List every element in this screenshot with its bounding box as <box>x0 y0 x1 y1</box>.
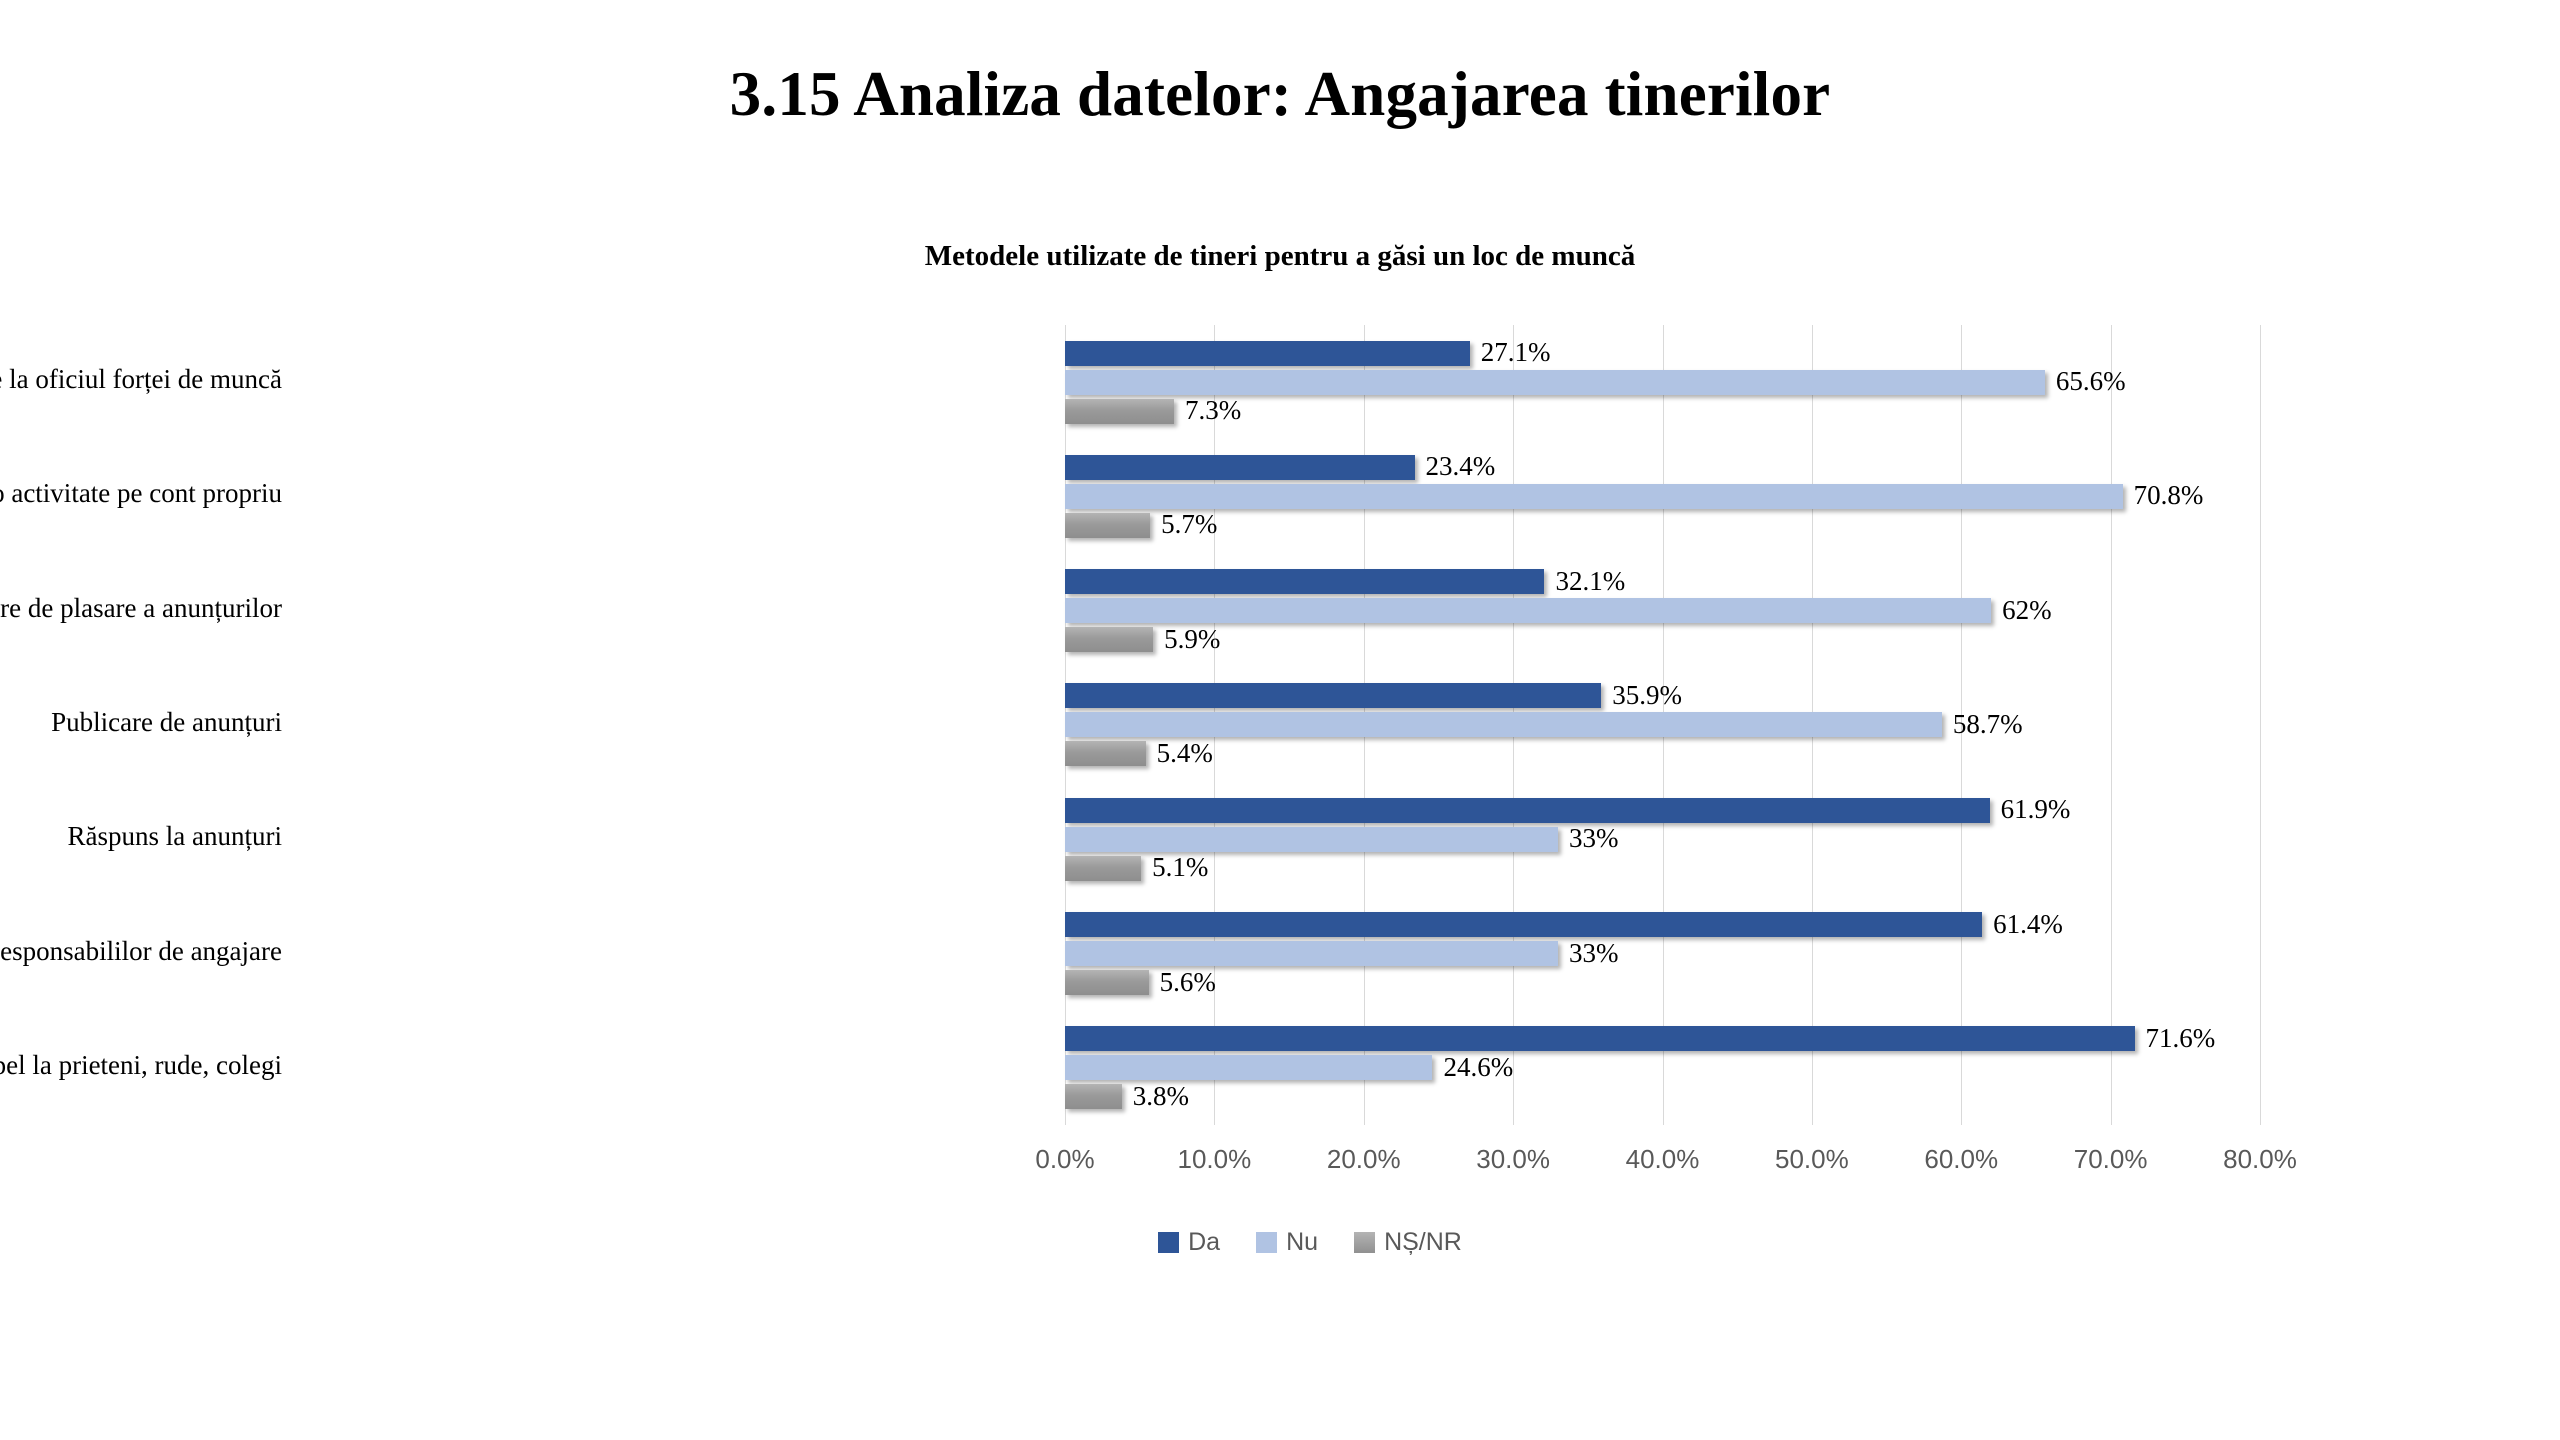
bar-row: 33% <box>1065 827 2260 852</box>
bar-nu[interactable] <box>1065 712 1942 737</box>
x-axis-tick-label: 20.0% <box>1327 1144 1401 1175</box>
bar-value-label: 62% <box>2002 595 2052 626</box>
bar-value-label: 7.3% <box>1185 395 1241 426</box>
legend-item-n-nr[interactable]: NȘ/NR <box>1354 1228 1462 1257</box>
bar-n-nr[interactable] <box>1065 856 1141 881</box>
bar-value-label: 5.1% <box>1152 852 1208 883</box>
x-axis-tick-label: 70.0% <box>2074 1144 2148 1175</box>
legend-item-nu[interactable]: Nu <box>1256 1228 1318 1257</box>
bar-nu[interactable] <box>1065 484 2123 509</box>
x-axis-tick-label: 0.0% <box>1035 1144 1094 1175</box>
bar-row: 71.6% <box>1065 1026 2260 1051</box>
bar-group: 61.4%33%5.6% <box>1065 896 2260 1010</box>
bar-value-label: 23.4% <box>1426 451 1496 482</box>
bar-row: 61.9% <box>1065 798 2260 823</box>
bar-n-nr[interactable] <box>1065 513 1150 538</box>
x-axis-tick-label: 60.0% <box>1924 1144 1998 1175</box>
bar-value-label: 33% <box>1569 823 1619 854</box>
bar-row: 62% <box>1065 598 2260 623</box>
bar-value-label: 70.8% <box>2134 480 2204 511</box>
bar-nu[interactable] <box>1065 827 1558 852</box>
bar-row: 5.7% <box>1065 513 2260 538</box>
bar-group: 35.9%58.7%5.4% <box>1065 668 2260 782</box>
bar-group: 71.6%24.6%3.8% <box>1065 1011 2260 1125</box>
bar-da[interactable] <box>1065 569 1544 594</box>
category-label: Înscriere la oficiul forței de muncă <box>0 364 282 395</box>
bar-row: 5.4% <box>1065 741 2260 766</box>
legend-label: Da <box>1188 1228 1220 1257</box>
category-label: Demersuri pentru a începe o activitate p… <box>0 478 282 509</box>
bar-value-label: 5.9% <box>1164 624 1220 655</box>
category-label: Apel la prieteni, rude, colegi <box>0 1050 282 1081</box>
bar-group: 61.9%33%5.1% <box>1065 782 2260 896</box>
bar-row: 70.8% <box>1065 484 2260 509</box>
bar-da[interactable] <box>1065 341 1470 366</box>
bar-nu[interactable] <box>1065 941 1558 966</box>
bar-value-label: 65.6% <box>2056 366 2126 397</box>
legend-swatch-icon <box>1354 1232 1375 1253</box>
bar-row: 61.4% <box>1065 912 2260 937</box>
chart-title: Metodele utilizate de tineri pentru a gă… <box>0 240 2560 273</box>
slide-page: 3.15 Analiza datelor: Angajarea tinerilo… <box>0 0 2560 1440</box>
gridline <box>2260 325 2261 1125</box>
bar-nu[interactable] <box>1065 370 2045 395</box>
bar-value-label: 3.8% <box>1133 1081 1189 1112</box>
bar-value-label: 71.6% <box>2146 1023 2216 1054</box>
bar-group: 27.1%65.6%7.3% <box>1065 325 2260 439</box>
bar-value-label: 5.6% <box>1160 966 1216 997</box>
x-axis-tick-label: 40.0% <box>1626 1144 1700 1175</box>
bar-da[interactable] <box>1065 455 1415 480</box>
legend-swatch-icon <box>1256 1232 1277 1253</box>
bar-da[interactable] <box>1065 1026 2135 1051</box>
bar-value-label: 35.9% <box>1612 680 1682 711</box>
bar-group: 23.4%70.8%5.7% <box>1065 439 2260 553</box>
legend-label: NȘ/NR <box>1384 1228 1462 1257</box>
bar-row: 5.1% <box>1065 856 2260 881</box>
bar-row: 27.1% <box>1065 341 2260 366</box>
category-label: Publicare de anunțuri <box>51 707 282 738</box>
chart-legend: DaNuNȘ/NR <box>0 1228 2560 1257</box>
bar-value-label: 33% <box>1569 937 1619 968</box>
bar-value-label: 32.1% <box>1555 566 1625 597</box>
bar-group: 32.1%62%5.9% <box>1065 554 2260 668</box>
bar-nu[interactable] <box>1065 1055 1432 1080</box>
bar-row: 23.4% <box>1065 455 2260 480</box>
bar-row: 3.8% <box>1065 1084 2260 1109</box>
bar-n-nr[interactable] <box>1065 399 1174 424</box>
bar-value-label: 61.9% <box>2001 794 2071 825</box>
bar-n-nr[interactable] <box>1065 970 1149 995</box>
bar-da[interactable] <box>1065 912 1982 937</box>
legend-item-da[interactable]: Da <box>1158 1228 1220 1257</box>
bar-da[interactable] <box>1065 683 1601 708</box>
category-label: Contactarea directă a patronilor sau a r… <box>0 936 282 967</box>
category-label: Răspuns la anunțuri <box>68 821 282 852</box>
x-axis-tick-label: 30.0% <box>1476 1144 1550 1175</box>
legend-swatch-icon <box>1158 1232 1179 1253</box>
bar-row: 33% <box>1065 941 2260 966</box>
bar-nu[interactable] <box>1065 598 1991 623</box>
bar-value-label: 5.4% <box>1157 738 1213 769</box>
bar-row: 65.6% <box>1065 370 2260 395</box>
bar-row: 24.6% <box>1065 1055 2260 1080</box>
x-axis-tick-label: 10.0% <box>1178 1144 1252 1175</box>
bar-value-label: 5.7% <box>1161 509 1217 540</box>
bar-value-label: 58.7% <box>1953 709 2023 740</box>
page-title: 3.15 Analiza datelor: Angajarea tinerilo… <box>0 58 2560 131</box>
x-axis-tick-label: 80.0% <box>2223 1144 2297 1175</box>
bar-row: 58.7% <box>1065 712 2260 737</box>
legend-label: Nu <box>1286 1228 1318 1257</box>
bar-value-label: 61.4% <box>1993 908 2063 939</box>
bar-value-label: 27.1% <box>1481 337 1551 368</box>
bar-n-nr[interactable] <box>1065 1084 1122 1109</box>
category-label: Înscriere la agenții particulare de plas… <box>0 593 282 624</box>
bar-row: 5.6% <box>1065 970 2260 995</box>
bar-value-label: 24.6% <box>1443 1052 1513 1083</box>
bar-row: 5.9% <box>1065 627 2260 652</box>
x-axis-tick-label: 50.0% <box>1775 1144 1849 1175</box>
bar-da[interactable] <box>1065 798 1990 823</box>
bar-n-nr[interactable] <box>1065 741 1146 766</box>
bar-row: 32.1% <box>1065 569 2260 594</box>
bar-chart-plot-area: 27.1%65.6%7.3%23.4%70.8%5.7%32.1%62%5.9%… <box>1065 325 2260 1125</box>
bar-row: 35.9% <box>1065 683 2260 708</box>
bar-row: 7.3% <box>1065 399 2260 424</box>
bar-n-nr[interactable] <box>1065 627 1153 652</box>
